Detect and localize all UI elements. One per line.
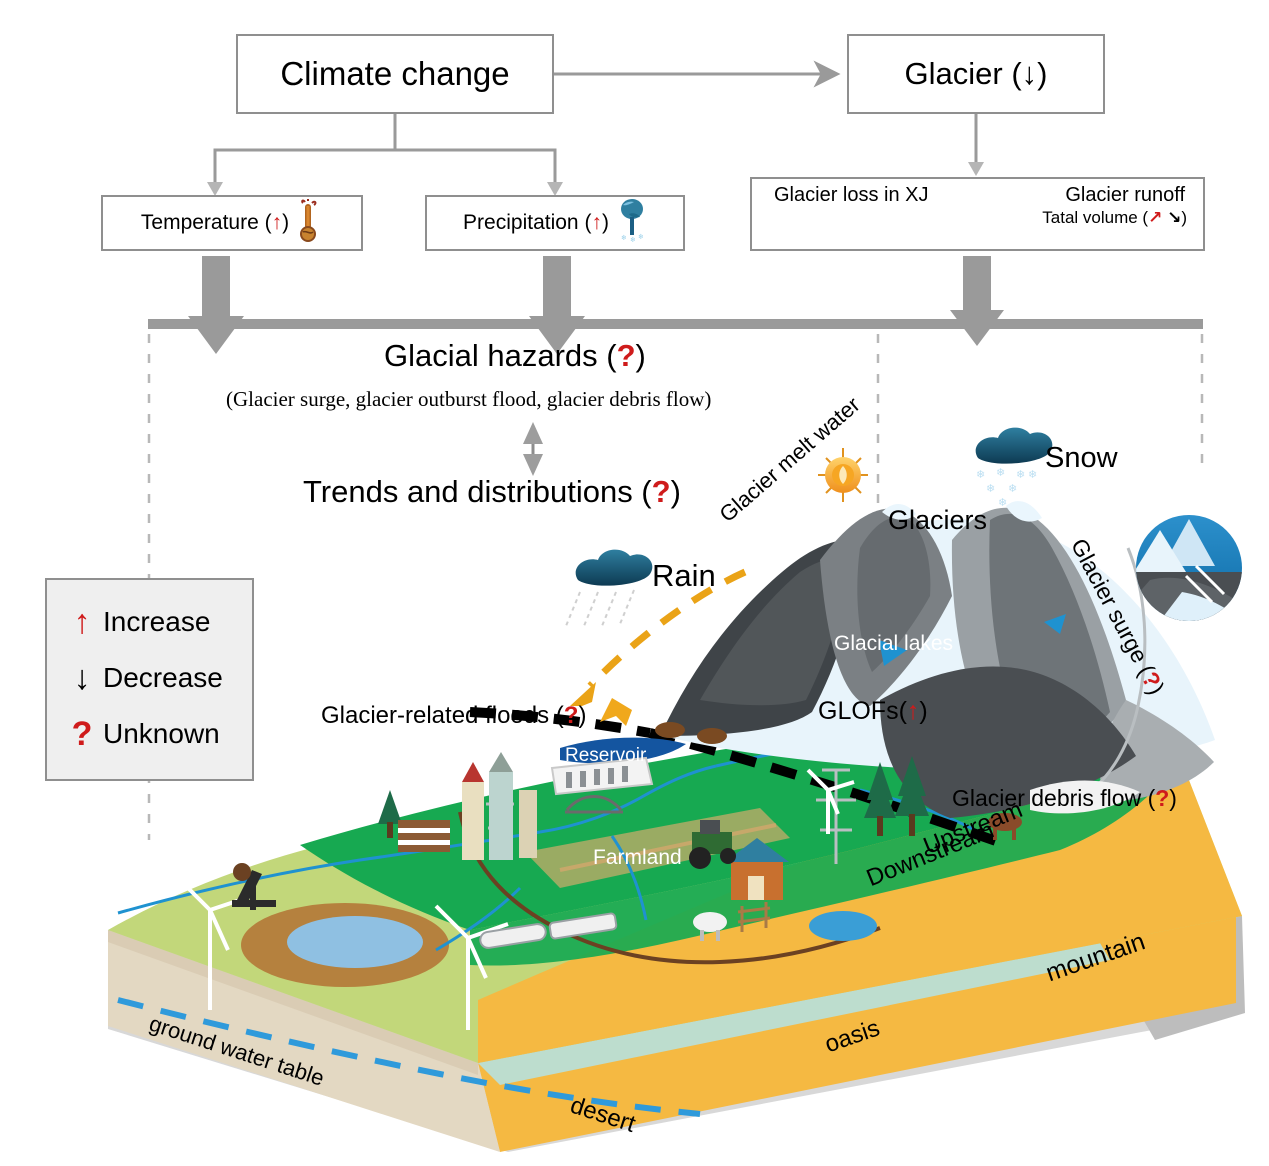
floods-text: Glacier-related floods ( (321, 702, 564, 729)
hazards-text: Glacial hazards ( (384, 338, 617, 373)
svg-text:❄: ❄ (986, 482, 995, 495)
glacier-loss-label: Glacier loss in XJ (774, 184, 929, 206)
temperature-text: Temperature ( (141, 211, 272, 234)
box-temperature: Temperature (↑) (101, 195, 363, 251)
glacier-label: Glacier (↓) (905, 57, 1048, 91)
trends-text: Trends and distributions ( (303, 474, 652, 509)
question-mark-icon: ? (652, 474, 671, 509)
heading-trends-distributions: Trends and distributions (?) (303, 474, 681, 510)
label-glofs: GLOFs(↑) (818, 697, 928, 726)
precipitation-gauge-icon: ❄❄❄ (617, 198, 647, 249)
legend-label-unknown: Unknown (103, 718, 220, 750)
svg-text:❄: ❄ (976, 468, 985, 481)
pond-water (287, 916, 423, 968)
sun-icon (818, 448, 868, 502)
question-mark-icon: ? (1155, 785, 1169, 811)
debris-close-paren: ) (1169, 785, 1177, 811)
lowland-lake (809, 911, 877, 941)
up-arrow-icon: ↑ (907, 697, 920, 725)
legend-label-decrease: Decrease (103, 662, 223, 694)
box-precipitation: Precipitation (↑) ❄❄❄ (425, 195, 685, 251)
trends-close-paren: ) (671, 474, 681, 509)
floods-close-paren: ) (578, 702, 586, 729)
precipitation-label: Precipitation (↑) (463, 211, 609, 234)
heading-glacial-hazards: Glacial hazards (?) (384, 338, 646, 374)
legend-box: ↑ Increase ↓ Decrease ? Unknown (45, 578, 254, 781)
glofs-close-paren: ) (919, 697, 927, 725)
hazards-close-paren: ) (636, 338, 646, 373)
svg-text:❄: ❄ (1028, 468, 1037, 481)
bidirectional-arrow (523, 422, 543, 476)
label-snow: Snow (1045, 442, 1118, 475)
heading-hazards-subtitle: (Glacier surge, glacier outburst flood, … (226, 387, 711, 412)
up-arrow-icon: ↑ (591, 211, 602, 234)
figure-canvas: ❄❄❄ ❄❄❄ ❄ Climate change Glacier (↓) Tem… (0, 0, 1269, 1166)
total-volume-row: Tatal volume (↗ ↘) (762, 209, 1193, 228)
box-glacier: Glacier (↓) (847, 34, 1105, 114)
rain-cloud-icon (566, 550, 652, 626)
svg-text:❄: ❄ (621, 234, 627, 242)
svg-text:❄: ❄ (998, 496, 1007, 509)
total-volume-close-paren: ) (1181, 208, 1187, 227)
label-rain: Rain (652, 558, 716, 594)
up-arrow-icon: ↑ (272, 211, 283, 234)
svg-text:❄: ❄ (638, 233, 644, 241)
legend-label-increase: Increase (103, 606, 210, 638)
temperature-label: Temperature (↑) (141, 211, 289, 234)
up-arrow-icon: ↑ (61, 605, 103, 639)
box-climate-change: Climate change (236, 34, 554, 114)
svg-text:❄: ❄ (1008, 482, 1017, 495)
label-glacier-related-floods: Glacier-related floods (?) (321, 702, 586, 730)
down-arrow-icon: ↓ (1022, 56, 1038, 91)
glofs-text: GLOFs( (818, 697, 907, 725)
legend-item-increase: ↑ Increase (61, 594, 252, 650)
svg-text:❄: ❄ (996, 466, 1005, 479)
glacier-text: Glacier ( (905, 56, 1022, 91)
total-volume-text: Tatal volume ( (1042, 208, 1148, 227)
label-glacial-lakes: Glacial lakes (834, 632, 953, 656)
glacier-surge-badge-icon (1134, 515, 1242, 621)
question-mark-icon: ? (61, 717, 103, 751)
down-right-arrow-icon: ↘ (1167, 208, 1181, 227)
label-reservoir: Reservoir (565, 745, 646, 767)
glacier-close-paren: ) (1037, 56, 1047, 91)
svg-text:❄: ❄ (1016, 468, 1025, 481)
thermometer-icon (297, 199, 323, 248)
climate-change-label: Climate change (280, 56, 509, 92)
separator-bar (148, 319, 1203, 329)
precipitation-close-paren: ) (602, 211, 609, 234)
debris-text: Glacier debris flow ( (952, 785, 1155, 811)
svg-text:❄: ❄ (630, 236, 636, 244)
label-glaciers: Glaciers (888, 505, 987, 536)
down-arrow-icon: ↓ (61, 661, 103, 695)
label-farmland: Farmland (593, 846, 682, 870)
question-mark-icon: ? (617, 338, 636, 373)
question-mark-icon: ? (564, 702, 579, 729)
box-glacier-loss-runoff: Glacier loss in XJ Glacier runoff Tatal … (750, 177, 1205, 251)
legend-item-unknown: ? Unknown (61, 706, 252, 762)
glacier-runoff-label: Glacier runoff (1065, 184, 1185, 206)
legend-item-decrease: ↓ Decrease (61, 650, 252, 706)
up-right-arrow-icon: ↗ (1148, 208, 1162, 227)
precipitation-text: Precipitation ( (463, 211, 591, 234)
glacier-loss-runoff-row: Glacier loss in XJ Glacier runoff (762, 184, 1193, 206)
temperature-close-paren: ) (282, 211, 289, 234)
snow-cloud-icon: ❄❄❄ ❄❄❄ ❄ (976, 428, 1053, 509)
